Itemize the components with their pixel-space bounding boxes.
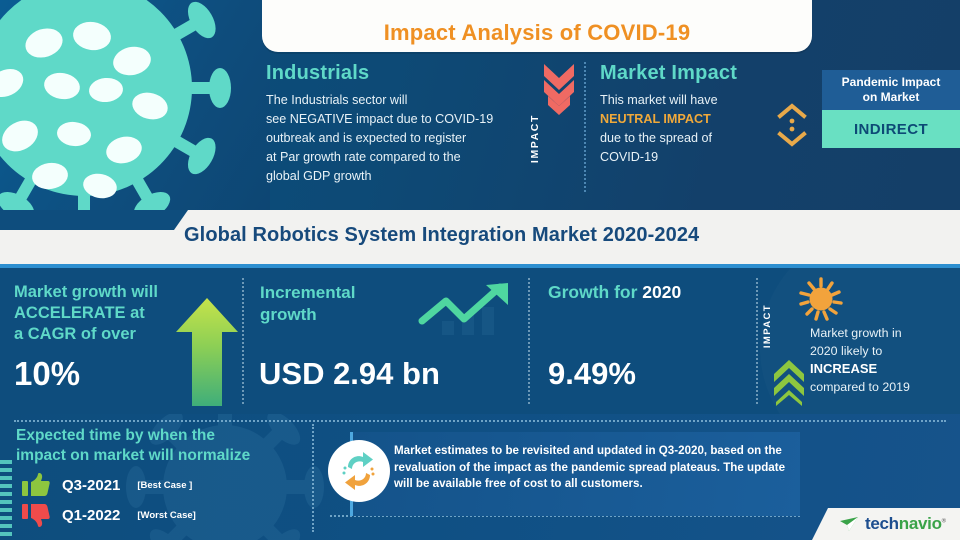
virus-dot-icon xyxy=(798,276,844,322)
title-bar-notch xyxy=(0,210,174,230)
market-impact-column: Market Impact This market will have NEUT… xyxy=(600,62,800,167)
incremental-growth-value: USD 2.94 bn xyxy=(259,356,440,392)
best-case-quarter: Q3-2021 xyxy=(62,477,120,494)
chevron-up-increase-icon xyxy=(772,356,806,406)
incremental-growth-heading: Incremental growth xyxy=(260,282,410,326)
growth-trend-up-icon xyxy=(416,281,526,337)
impact-right-emphasis: INCREASE xyxy=(810,360,960,378)
impact-indicator-top: IMPACT xyxy=(536,62,582,190)
cagr-value: 10% xyxy=(14,355,80,393)
industrials-line-4: at Par growth rate compared to the xyxy=(266,148,528,167)
cagr-line-1: Market growth will xyxy=(14,282,194,303)
market-impact-line-2: due to the spread of xyxy=(600,129,800,148)
logo-part-1: tech xyxy=(865,514,899,533)
impact-right-line-3: compared to 2019 xyxy=(810,378,960,396)
industrials-line-1: The Industrials sector will xyxy=(266,91,528,110)
header-band: Impact Analysis of COVID-19 Industrials … xyxy=(0,0,960,210)
market-impact-heading: Market Impact xyxy=(600,62,800,85)
stats-divider-3 xyxy=(756,278,758,404)
infographic-root: Impact Analysis of COVID-19 Industrials … xyxy=(0,0,960,540)
industrials-line-2: see NEGATIVE impact due to COVID-19 xyxy=(266,110,528,129)
worst-case-tag: [Worst Case] xyxy=(137,510,195,521)
page-title: Global Robotics System Integration Marke… xyxy=(184,224,699,247)
cagr-stat: Market growth will ACCELERATE at a CAGR … xyxy=(14,282,194,345)
pandemic-badge-title-line1: Pandemic Impact xyxy=(842,75,941,90)
thumbs-down-icon xyxy=(22,503,50,527)
industrials-column: Industrials The Industrials sector will … xyxy=(266,62,528,186)
main-title-bar: Global Robotics System Integration Marke… xyxy=(0,210,960,268)
impact-right-line-1: Market growth in xyxy=(810,324,960,342)
impact-right-panel: IMPACT xyxy=(768,274,960,410)
pandemic-badge-title: Pandemic Impact on Market xyxy=(822,70,960,110)
best-case-row: Q3-2021 [Best Case ] xyxy=(22,473,192,497)
note-text: Market estimates to be revisited and upd… xyxy=(394,443,786,493)
chevron-down-icon xyxy=(536,62,582,118)
technavio-wordmark: technavio® xyxy=(865,514,946,534)
market-impact-line-3: COVID-19 xyxy=(600,148,800,167)
worst-case-row: Q1-2022 [Worst Case] xyxy=(22,503,196,527)
logo-trademark: ® xyxy=(942,518,946,524)
growth-2020-heading: Growth for 2020 xyxy=(548,282,681,303)
industrials-heading: Industrials xyxy=(266,62,528,85)
industrials-body: The Industrials sector will see NEGATIVE… xyxy=(266,91,528,186)
impact-label-top: IMPACT xyxy=(529,114,589,163)
incremental-line-2: growth xyxy=(260,304,410,326)
industrials-line-5: global GDP growth xyxy=(266,167,528,186)
market-impact-body: This market will have NEUTRAL IMPACT due… xyxy=(600,91,800,167)
worst-case-quarter: Q1-2022 xyxy=(62,507,120,524)
thumbs-up-icon xyxy=(22,473,50,497)
growth-2020-value: 9.49% xyxy=(548,356,636,392)
banner-title-card: Impact Analysis of COVID-19 xyxy=(262,0,812,52)
market-impact-line-1: This market will have xyxy=(600,91,800,110)
left-edge-stripe xyxy=(0,460,12,540)
banner-title: Impact Analysis of COVID-19 xyxy=(384,20,691,46)
pandemic-badge-value: INDIRECT xyxy=(822,110,960,148)
technavio-logo: technavio® xyxy=(828,508,960,540)
pandemic-impact-badge: Pandemic Impact on Market INDIRECT xyxy=(822,70,960,148)
impact-right-line-2: 2020 likely to xyxy=(810,342,960,360)
coronavirus-illustration xyxy=(0,0,234,210)
refresh-update-icon xyxy=(328,440,390,502)
arrow-up-icon xyxy=(176,298,238,406)
impact-right-text: Market growth in 2020 likely to INCREASE… xyxy=(810,324,960,396)
header-divider xyxy=(584,62,586,192)
industrials-line-3: outbreak and is expected to register xyxy=(266,129,528,148)
bottom-top-divider xyxy=(14,420,946,422)
technavio-mark-icon xyxy=(840,516,860,532)
incremental-line-1: Incremental xyxy=(260,282,410,304)
indirect-updown-icon xyxy=(774,103,810,147)
normalize-heading: Expected time by when the impact on mark… xyxy=(16,426,316,466)
stats-divider-1 xyxy=(242,278,244,404)
growth-2020-label: Growth for xyxy=(548,282,642,302)
best-case-tag: [Best Case ] xyxy=(137,480,192,491)
cagr-line-2: ACCELERATE at xyxy=(14,303,194,324)
cagr-line-3: a CAGR of over xyxy=(14,324,194,345)
pandemic-badge-title-line2: on Market xyxy=(863,90,920,105)
market-impact-emphasis: NEUTRAL IMPACT xyxy=(600,110,800,129)
normalize-heading-line-1: Expected time by when the xyxy=(16,426,316,446)
normalize-heading-line-2: impact on market will normalize xyxy=(16,446,316,466)
stats-divider-2 xyxy=(528,278,530,404)
logo-part-2: navio xyxy=(899,514,942,533)
growth-2020-year: 2020 xyxy=(642,282,681,302)
